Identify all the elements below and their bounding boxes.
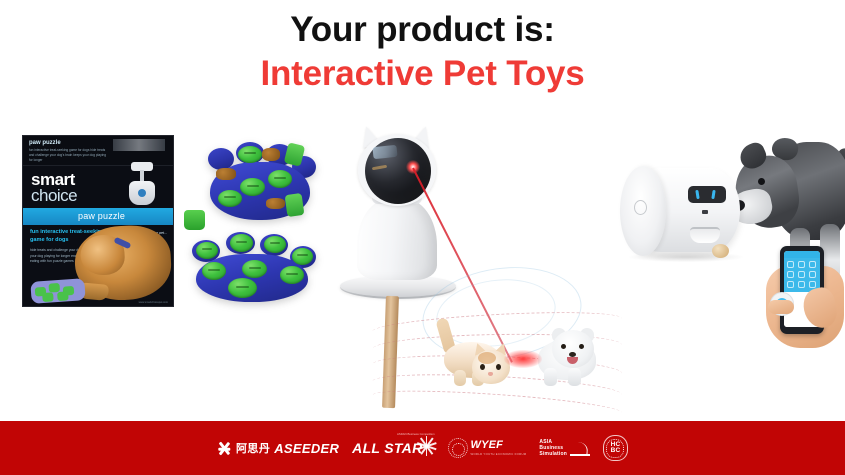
wyef-label: WYEF [471,440,527,451]
all-star-label: ALL STAR [352,440,422,456]
laser-device-body [357,198,437,280]
crest-line1: HC [611,442,621,448]
partner-logo-row: 阿思丹 ASEEDER ASDAN Business Competition A… [0,421,845,475]
crest-icon: HC BC [603,435,628,461]
box-top-foil-logo [113,139,165,151]
box-brand-line2: choice [31,186,77,206]
box-top-subtext: fun interactive treat-seeking game for d… [29,148,109,162]
logo-wyef: WYEF WORLD YOUTH ECONOMIC FORUM [448,435,527,461]
robot-treat-chute [690,227,720,243]
crest-line2: BC [611,448,621,454]
laser-dot-on-floor [504,350,542,368]
logo-hc-bc-crest: HC BC [603,435,628,461]
logo-all-star: ASDAN Business Competition ALL STAR [352,435,434,461]
wyef-seal-icon [448,438,468,458]
page-title: Your product is: [0,10,845,49]
aseeder-chinese-name: 阿思丹 [236,440,270,456]
robot-sensor [702,210,708,214]
product-image-retail-box: paw puzzle fun interactive treat-seeking… [22,135,174,307]
asia-line3: Simulation [539,451,567,457]
star-burst-icon [417,436,437,456]
asia-growth-curve-icon [570,440,590,457]
wyef-subtitle: WORLD YOUTH ECONOMIC FORUM [471,453,527,456]
box-artwork: paw puzzle fun interactive treat-seeking… [22,135,174,307]
product-image-paw-puzzles [182,136,324,306]
logo-aseeder: 阿思丹 ASEEDER [217,435,339,461]
box-puzzle-toy [30,278,85,304]
box-banner: paw puzzle [23,208,173,225]
product-image-treat-robot [614,128,845,348]
robot-power-button [634,200,647,215]
phone-in-hand [764,246,845,348]
box-banner-label: paw puzzle [78,211,125,221]
box-footer-note: www.smartchoicepet.com [139,301,168,304]
product-name-title: Interactive Pet Toys [0,53,845,94]
logo-asia-business-simulation: ASIA Business Simulation [539,435,590,461]
paw-puzzle-loose-cap [184,210,205,230]
treat-ball [712,244,729,258]
slide-root: Your product is: Interactive Pet Toys pa… [0,0,845,475]
puppy [528,312,612,392]
paw-puzzle-upper [202,142,320,226]
product-image-strip: paw puzzle fun interactive treat-seeking… [0,118,845,418]
title-block: Your product is: Interactive Pet Toys [0,10,845,94]
aseeder-mark-icon [217,441,232,456]
robot-face-panel [688,186,726,203]
box-insert-illustration [125,162,159,206]
paw-puzzle-lower [188,232,320,304]
box-top-title: paw puzzle [29,140,61,146]
aseeder-english-name: ASEEDER [274,441,339,456]
footer-bar: 阿思丹 ASEEDER ASDAN Business Competition A… [0,421,845,475]
product-image-laser-toy [332,120,632,410]
